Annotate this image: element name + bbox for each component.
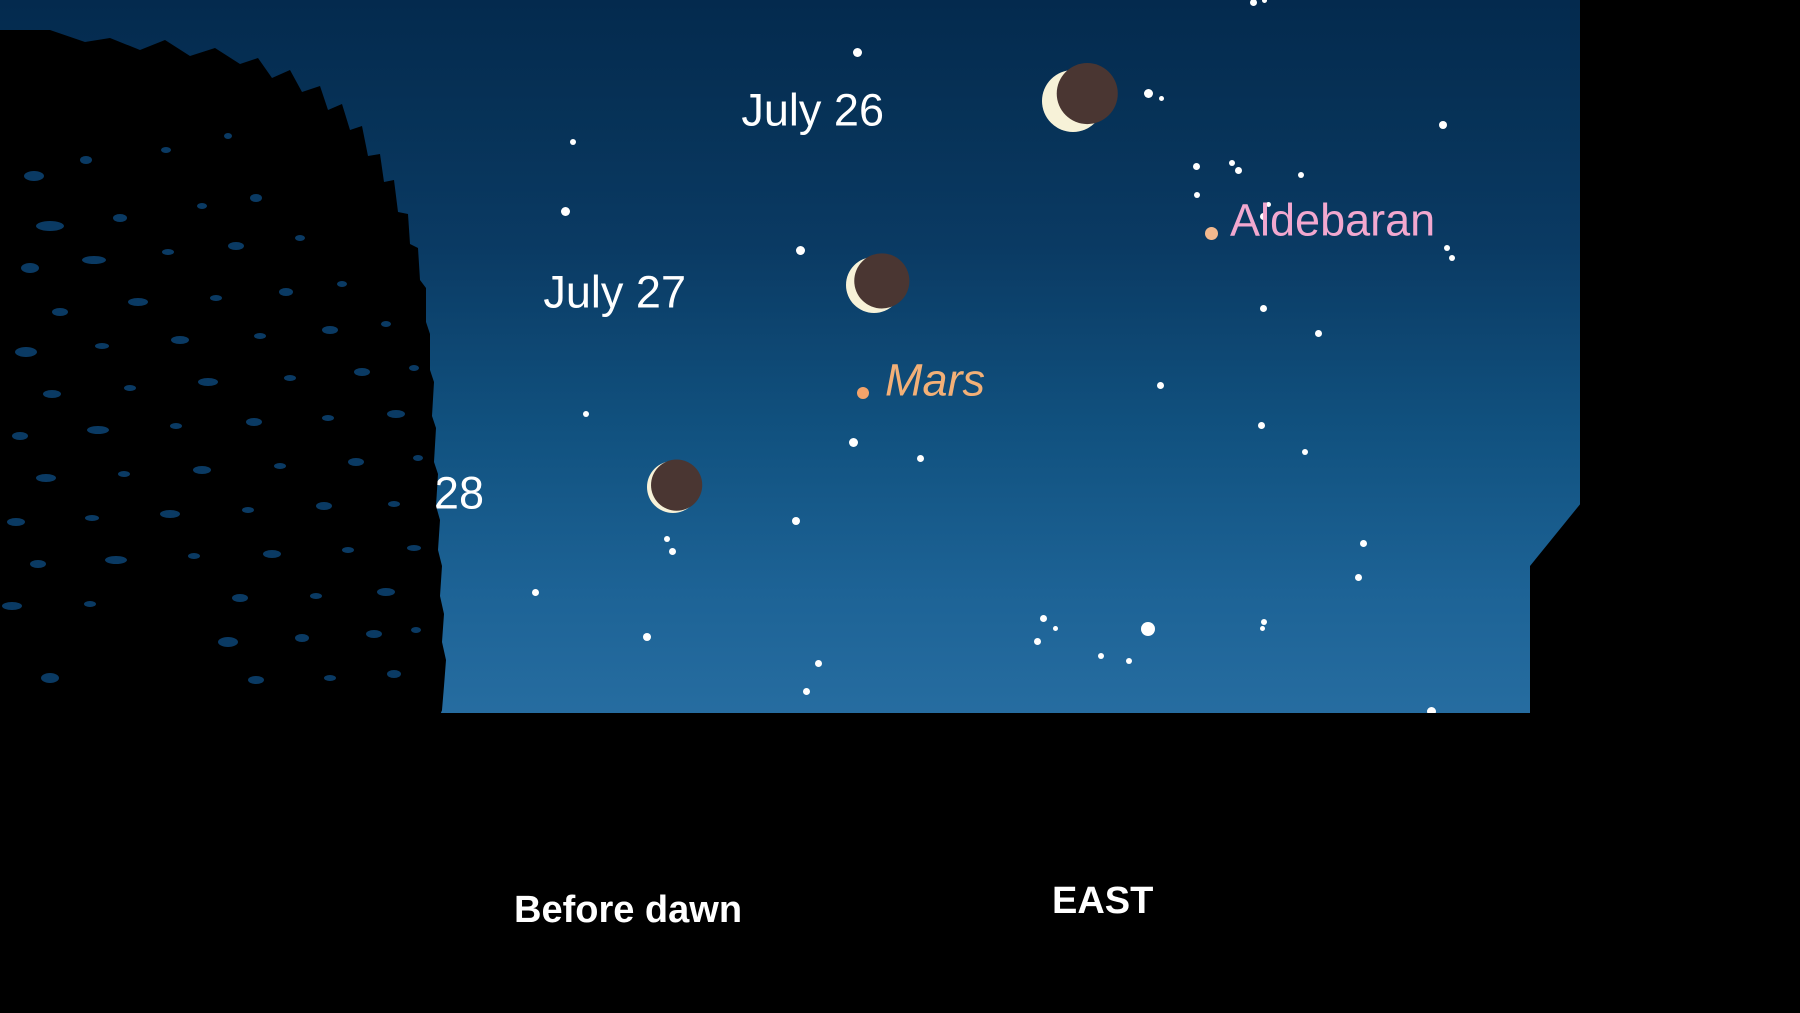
star-dot [1053,626,1058,631]
aldebaran-label: Aldebaran [1230,198,1435,243]
star-dot [792,517,800,525]
moon-july-27 [846,257,902,313]
star-dot [1141,622,1155,636]
star-dot [1260,626,1265,631]
sky-chart-scene: July 26July 27July 28 AldebaranMars [0,0,1800,1013]
star-dot [1126,658,1132,664]
star-dot [1250,0,1257,6]
star-dot [1194,192,1200,198]
moon-july-26-label: July 26 [741,88,884,133]
moon-july-27-label: July 27 [543,270,686,315]
star-dot [570,139,576,145]
star-dot [1034,638,1041,645]
star-dot [1449,255,1455,261]
moon-july-26 [1042,70,1104,132]
star-dot [1159,96,1164,101]
star-dot [1040,615,1047,622]
star-dot [796,246,805,255]
star-dot [803,688,810,695]
star-dot [1157,382,1164,389]
mars-dot [857,387,869,399]
star-dot [561,207,570,216]
mars-label: Mars [885,358,985,403]
star-dot [583,411,589,417]
star-dot [1235,167,1242,174]
east-direction-label: EAST [1052,882,1153,920]
star-dot [1261,619,1267,625]
star-dot [669,548,676,555]
star-dot [1098,653,1104,659]
star-dot [1260,305,1267,312]
star-dot [917,455,924,462]
star-dot [1298,172,1304,178]
star-dot [643,633,651,641]
star-dot [532,589,539,596]
star-dot [1258,422,1265,429]
star-dot [1302,449,1308,455]
star-dot [815,660,822,667]
star-dot [1193,163,1200,170]
star-dot [664,536,670,542]
before-dawn-label: Before dawn [514,891,742,929]
star-dot [1315,330,1322,337]
star-dot [1262,0,1267,3]
star-dot [1439,121,1447,129]
star-dot [853,48,862,57]
ground-silhouette [0,713,1800,1013]
star-dot [1144,89,1153,98]
star-dot [1444,245,1450,251]
star-dot [849,438,858,447]
moon-july-28 [647,461,699,513]
aldebaran-dot [1205,227,1218,240]
star-dot [1355,574,1362,581]
star-dot [1360,540,1367,547]
star-dot [1229,160,1235,166]
